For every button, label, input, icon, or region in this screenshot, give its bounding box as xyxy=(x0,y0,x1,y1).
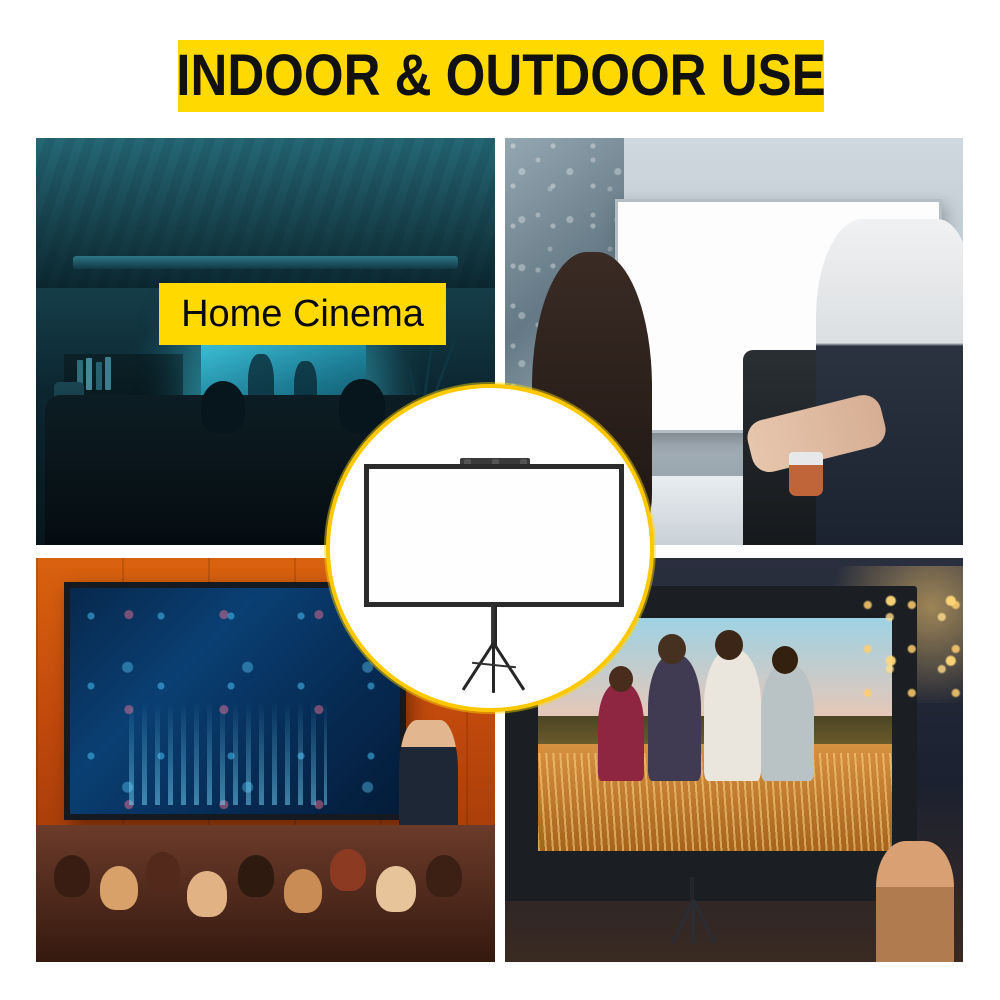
scene-label-text: Home Cinema xyxy=(181,295,424,333)
scene-label-home-cinema: Home Cinema xyxy=(159,283,446,345)
audience-head xyxy=(146,852,180,892)
tripod-leg xyxy=(462,642,495,691)
projected-friend-head xyxy=(772,646,798,674)
tripod-leg xyxy=(492,643,495,693)
foreground-camper xyxy=(876,841,954,962)
product-highlight-circle xyxy=(326,384,654,712)
screen-surface xyxy=(364,464,624,607)
slide-data-bars xyxy=(129,701,327,805)
ceiling-light-beam xyxy=(73,256,459,269)
viewer-silhouette xyxy=(201,381,245,433)
book xyxy=(105,357,111,390)
projected-friend xyxy=(761,664,814,781)
infographic-canvas: INDOOR & OUTDOOR USE Home Cinema xyxy=(0,0,1000,1000)
audience-head xyxy=(100,866,138,910)
viewer-silhouette xyxy=(339,379,385,433)
audience-head xyxy=(238,855,274,897)
audience-head xyxy=(187,871,227,917)
audience-head xyxy=(54,855,90,897)
book xyxy=(86,358,92,390)
audience-rows xyxy=(36,825,495,962)
projected-friend-head xyxy=(609,666,633,692)
page-title: INDOOR & OUTDOOR USE xyxy=(176,47,825,105)
projected-friend xyxy=(704,650,761,781)
audience-head xyxy=(376,866,416,912)
audience-head xyxy=(426,855,462,897)
presenter-person xyxy=(816,219,963,545)
outdoor-tripod-stand xyxy=(633,877,752,950)
product-tripod-projector-screen xyxy=(364,450,624,655)
string-lights xyxy=(844,590,963,711)
tripod-center-pole xyxy=(491,605,497,647)
projected-friend-head xyxy=(715,630,743,660)
coffee-cup xyxy=(789,452,823,496)
projected-friend xyxy=(648,655,701,781)
audience-head xyxy=(284,869,322,913)
title-banner: INDOOR & OUTDOOR USE xyxy=(178,40,824,112)
audience-head xyxy=(330,849,366,891)
projected-friend xyxy=(598,683,644,781)
book xyxy=(96,362,102,390)
